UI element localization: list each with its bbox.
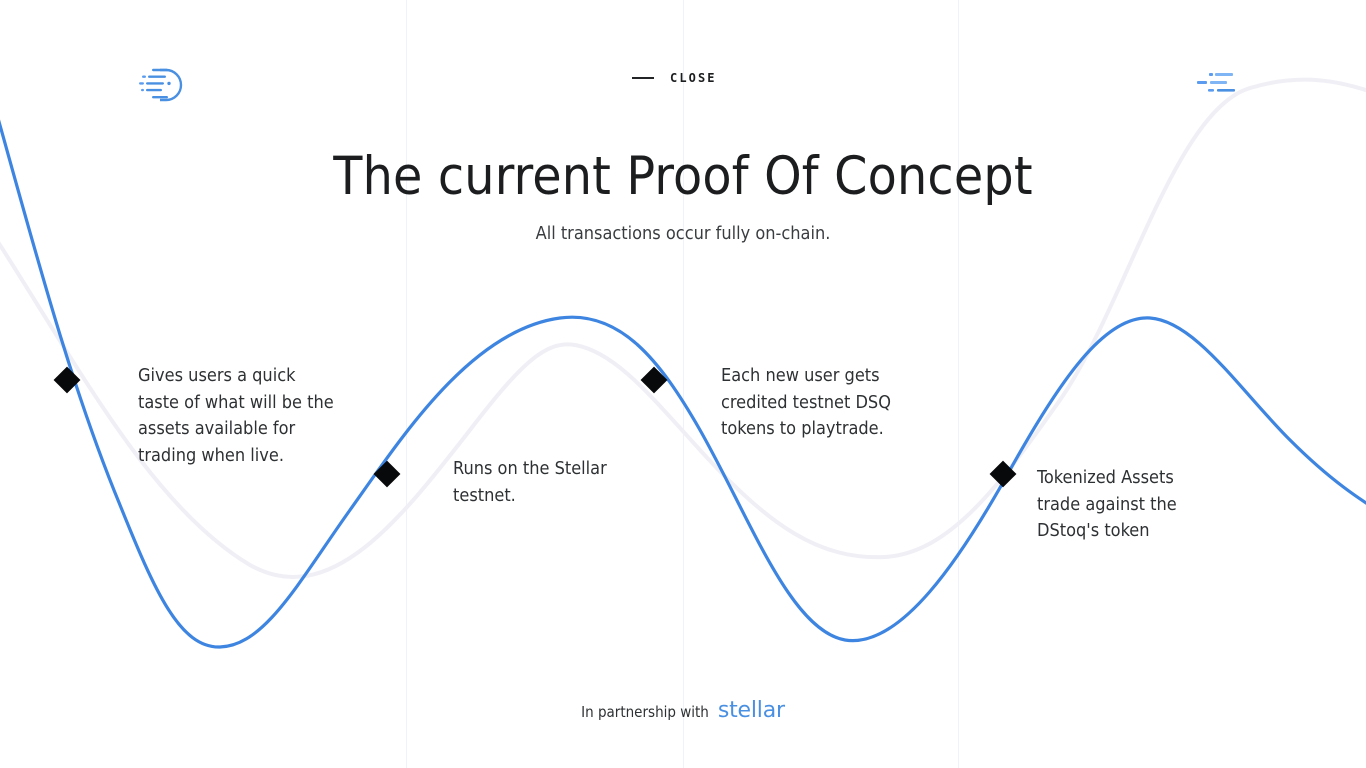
- step-text-4: Tokenized Assets trade against the DStoq…: [1037, 465, 1205, 545]
- dstoq-logo-icon[interactable]: [136, 66, 188, 104]
- step-text-2: Runs on the Stellar testnet.: [453, 456, 639, 509]
- poc-page: CLOSE The current Proof Of Concept All t…: [0, 0, 1366, 768]
- step-text-1: Gives users a quick taste of what will b…: [138, 363, 334, 469]
- partnership-footer: In partnership with stellar: [0, 700, 1366, 722]
- menu-lines-icon[interactable]: [1196, 70, 1236, 100]
- dash-icon: [632, 77, 654, 79]
- step-text-3: Each new user gets credited testnet DSQ …: [721, 363, 913, 443]
- page-header: CLOSE: [0, 0, 1366, 168]
- partnership-label: In partnership with: [581, 705, 709, 720]
- close-button[interactable]: CLOSE: [632, 72, 717, 84]
- close-button-label: CLOSE: [670, 72, 717, 84]
- stellar-wordmark[interactable]: stellar: [718, 700, 785, 722]
